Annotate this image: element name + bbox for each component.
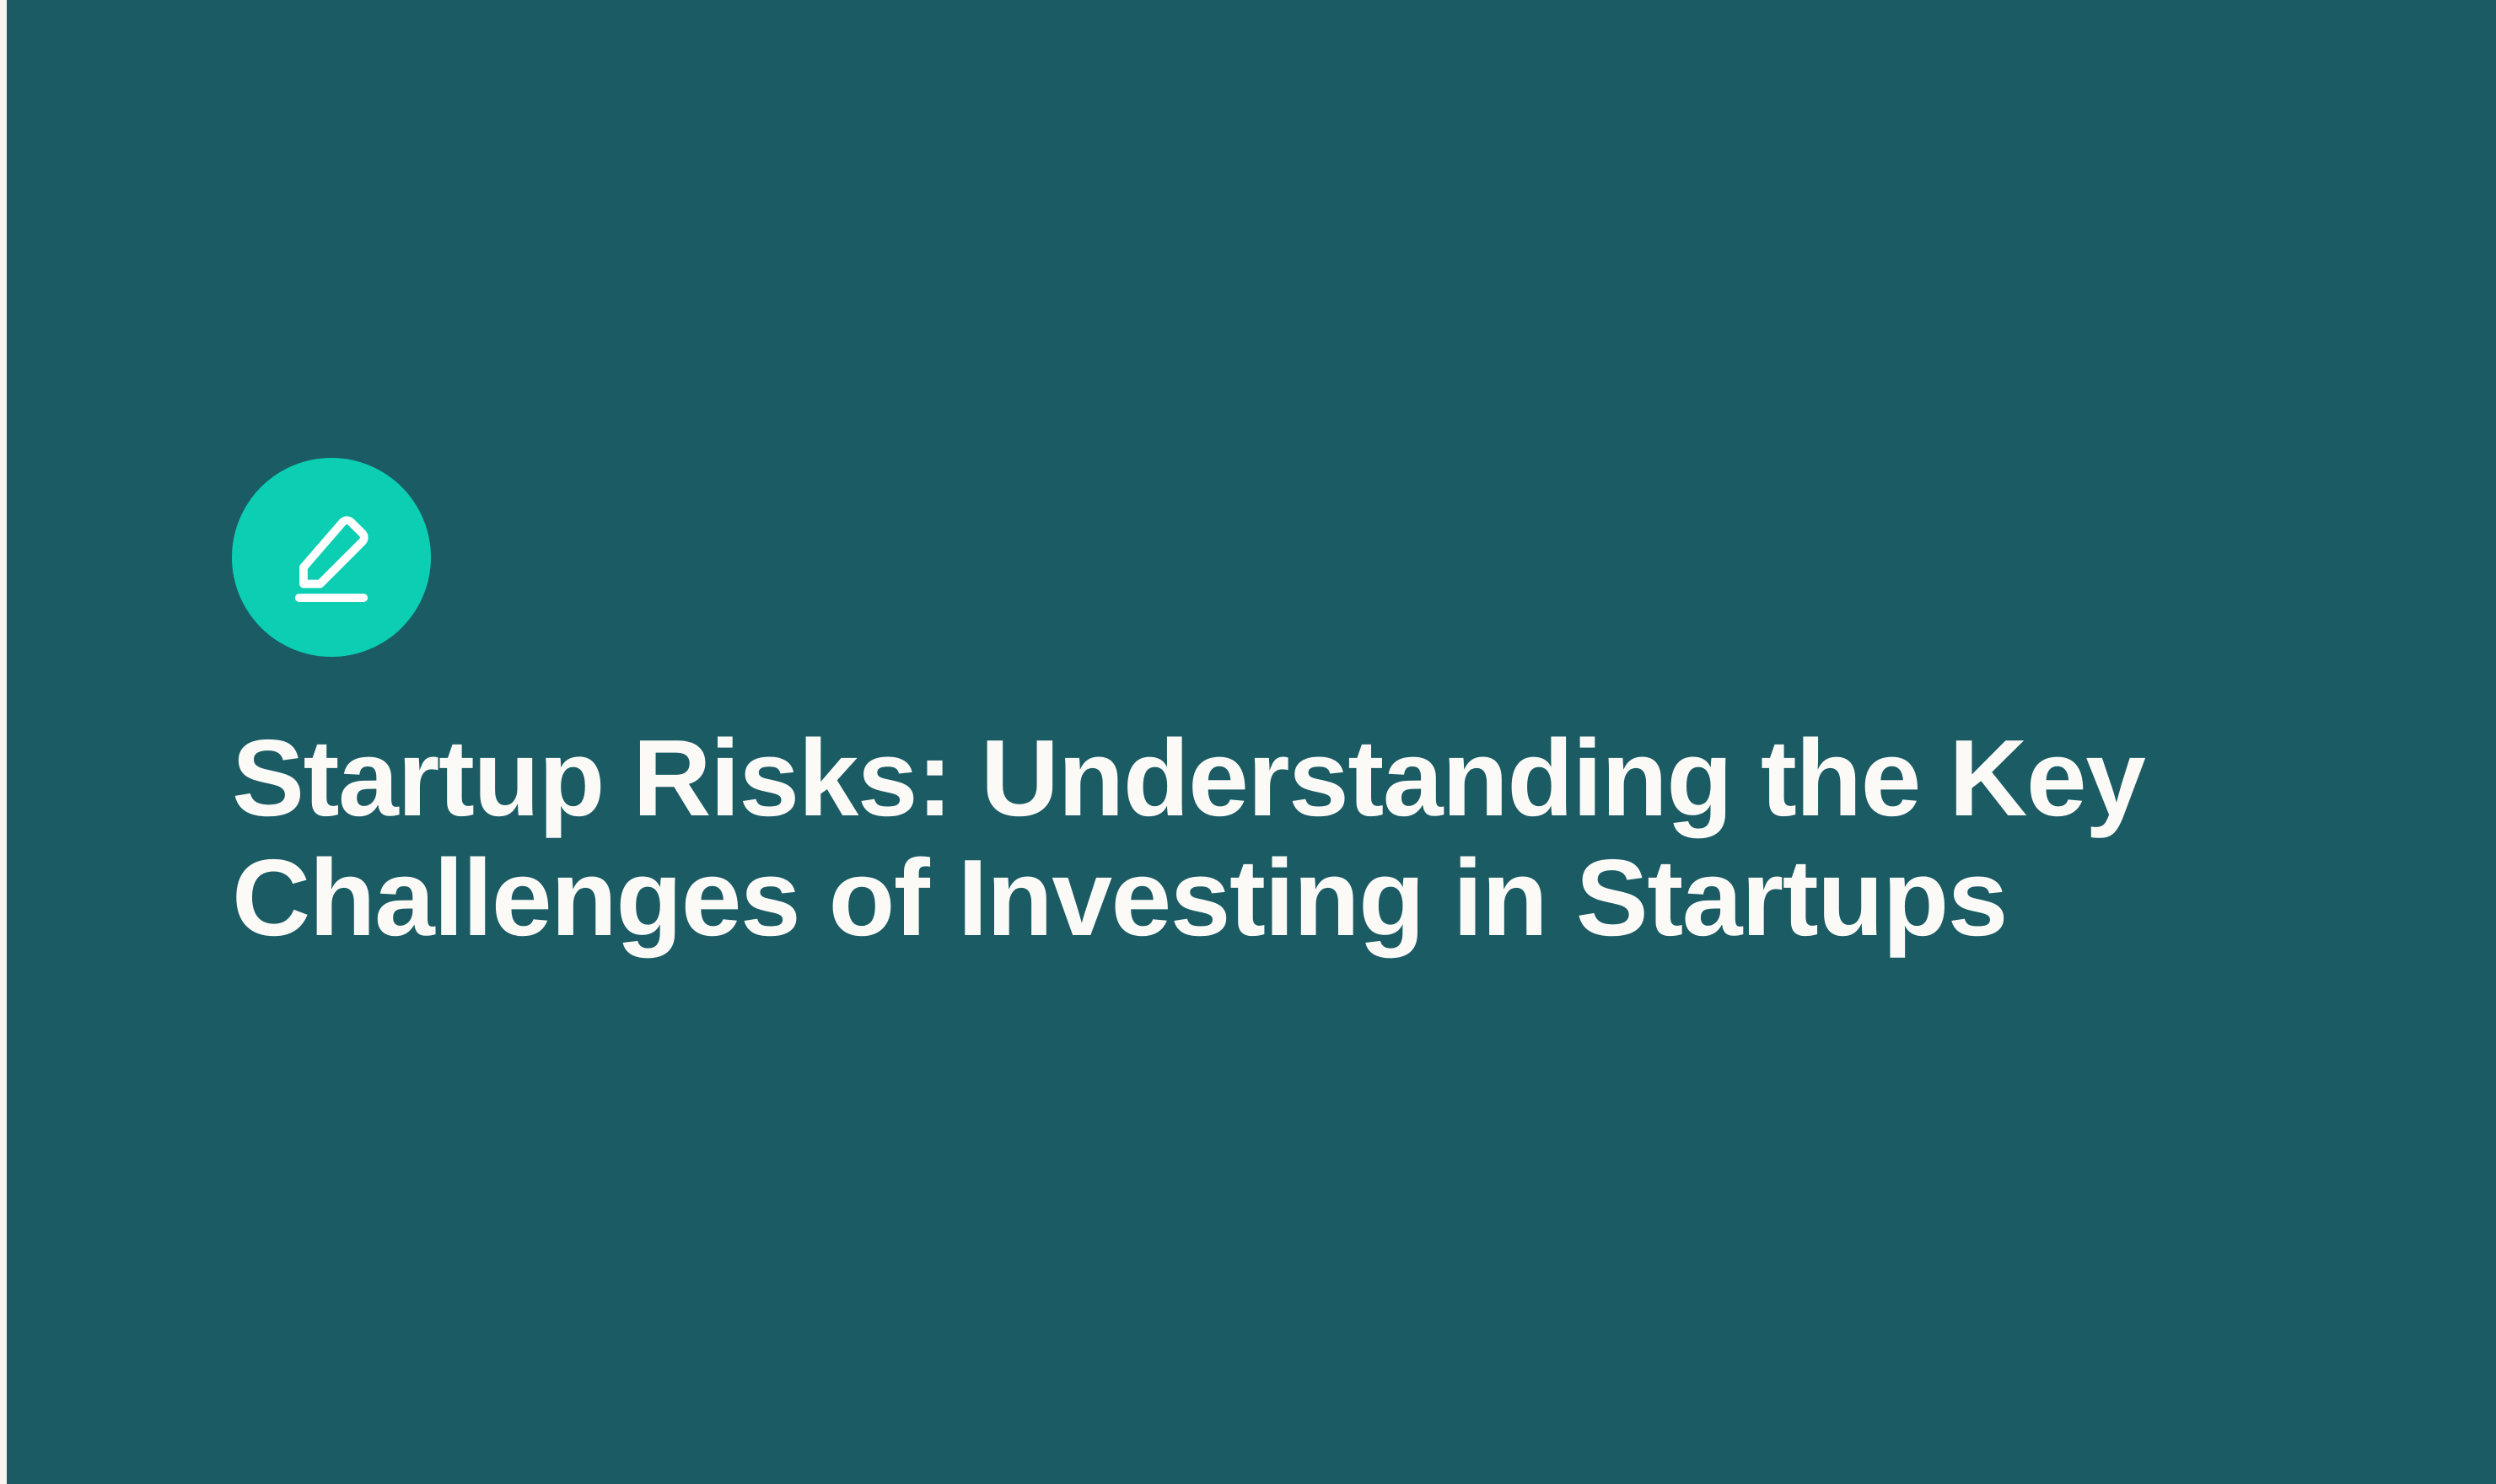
left-edge-accent-strip [0, 0, 7, 1484]
slide-content: Startup Risks: Understanding the Key Cha… [232, 458, 2340, 958]
edit-pencil-icon [279, 505, 384, 610]
edit-pencil-badge [232, 458, 431, 657]
page-title: Startup Risks: Understanding the Key Cha… [232, 718, 2298, 958]
title-slide: Startup Risks: Understanding the Key Cha… [0, 0, 2496, 1484]
